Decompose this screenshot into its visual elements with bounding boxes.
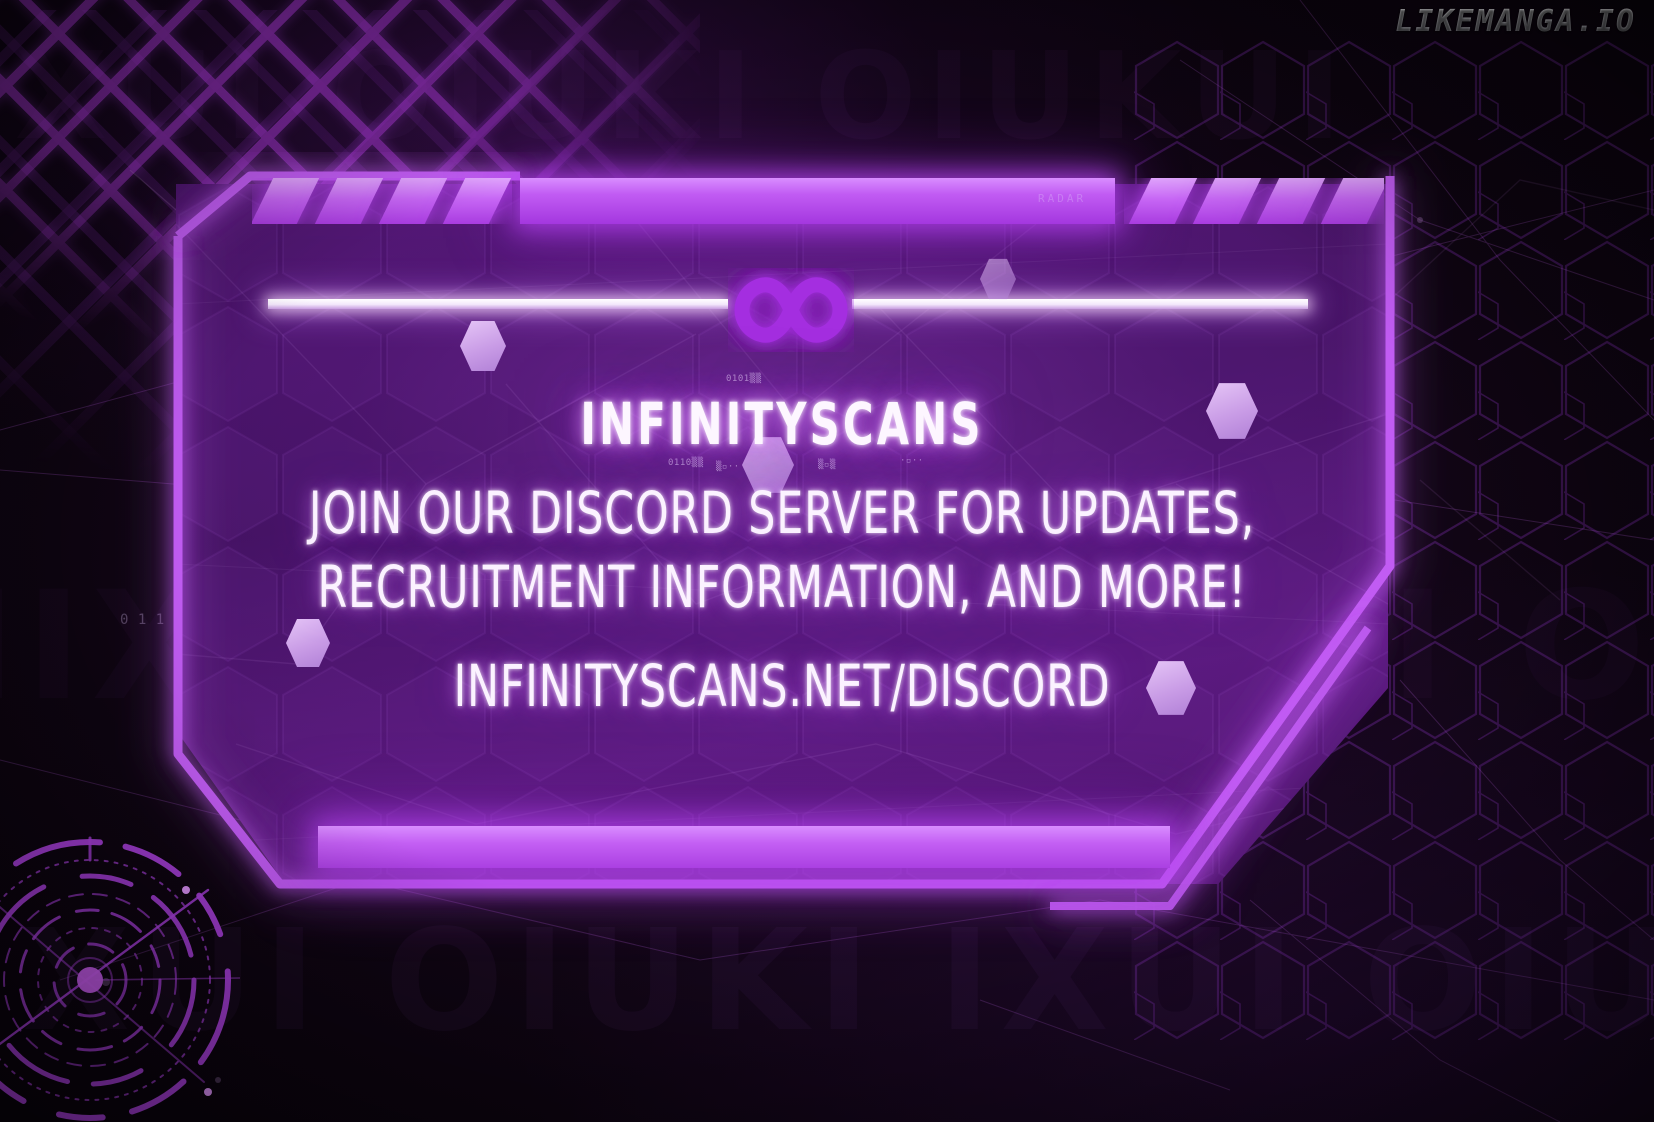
- discord-url[interactable]: INFINITYSCANS.NET/DISCORD: [285, 652, 1279, 720]
- panel-content: INFINITYSCANS JOIN OUR DISCORD SERVER FO…: [176, 184, 1388, 884]
- poster-canvas: IXUI OIUKI OIUKUI IIXUI OIUKI IXUI OIUK …: [0, 0, 1654, 1122]
- tagline: JOIN OUR DISCORD SERVER FOR UPDATES, REC…: [285, 476, 1279, 624]
- page-title: INFINITYSCANS: [297, 390, 1267, 458]
- tagline-line-1: JOIN OUR DISCORD SERVER FOR UPDATES,: [285, 476, 1279, 550]
- site-watermark: LIKEMANGA.IO: [1395, 4, 1636, 39]
- tagline-line-2: RECRUITMENT INFORMATION, AND MORE!: [285, 550, 1279, 624]
